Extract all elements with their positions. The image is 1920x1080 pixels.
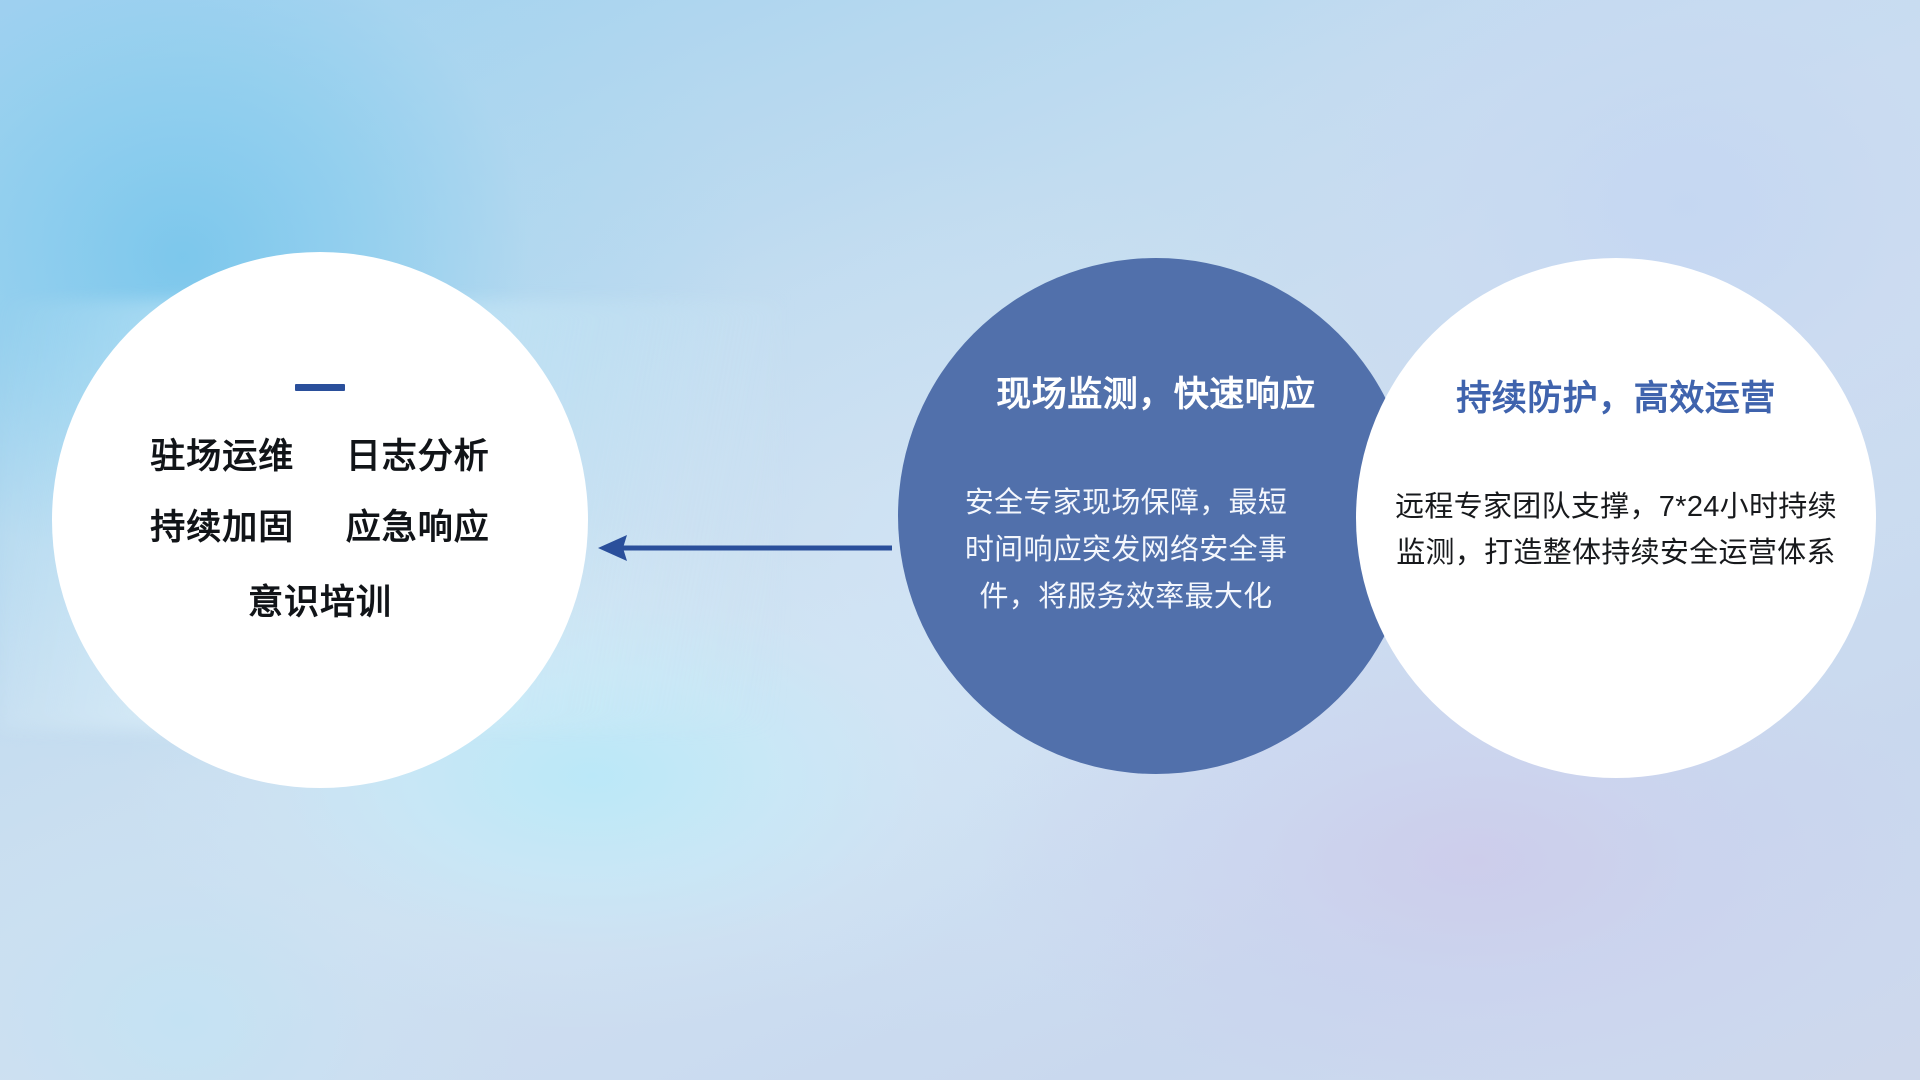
accent-dash-icon [295,384,345,391]
capability-label: 应急响应 [346,508,490,547]
slide-canvas: 驻场运维 日志分析 持续加固 应急响应 意识培训 现场监测，快速响应 安全专家现… [0,0,1920,1080]
capability-row-1: 驻场运维 日志分析 [52,439,588,474]
leftward-arrow-icon [596,516,896,580]
continuous-protection-body: 远程专家团队支撑，7*24小时持续监测，打造整体持续安全运营体系 [1392,484,1840,577]
onsite-monitoring-title: 现场监测，快速响应 [898,366,1414,417]
circle-continuous-protection: 持续防护，高效运营 远程专家团队支撑，7*24小时持续监测，打造整体持续安全运营… [1356,258,1876,778]
circle-onsite-monitoring: 现场监测，快速响应 安全专家现场保障，最短时间响应突发网络安全事件，将服务效率最… [898,258,1414,774]
capability-row-3: 意识培训 [52,585,588,620]
capability-label: 驻场运维 [150,437,294,476]
circle-onsite-capabilities: 驻场运维 日志分析 持续加固 应急响应 意识培训 [52,252,588,788]
continuous-protection-title: 持续防护，高效运营 [1356,370,1876,421]
capability-label: 持续加固 [150,508,294,547]
capability-label: 日志分析 [346,437,490,476]
onsite-capabilities-content: 驻场运维 日志分析 持续加固 应急响应 意识培训 [52,384,588,620]
capability-label: 意识培训 [248,583,392,622]
capability-row-2: 持续加固 应急响应 [52,510,588,545]
onsite-monitoring-body: 安全专家现场保障，最短时间响应突发网络安全事件，将服务效率最大化 [956,480,1296,621]
background-glow-bottom-left [0,760,600,1080]
